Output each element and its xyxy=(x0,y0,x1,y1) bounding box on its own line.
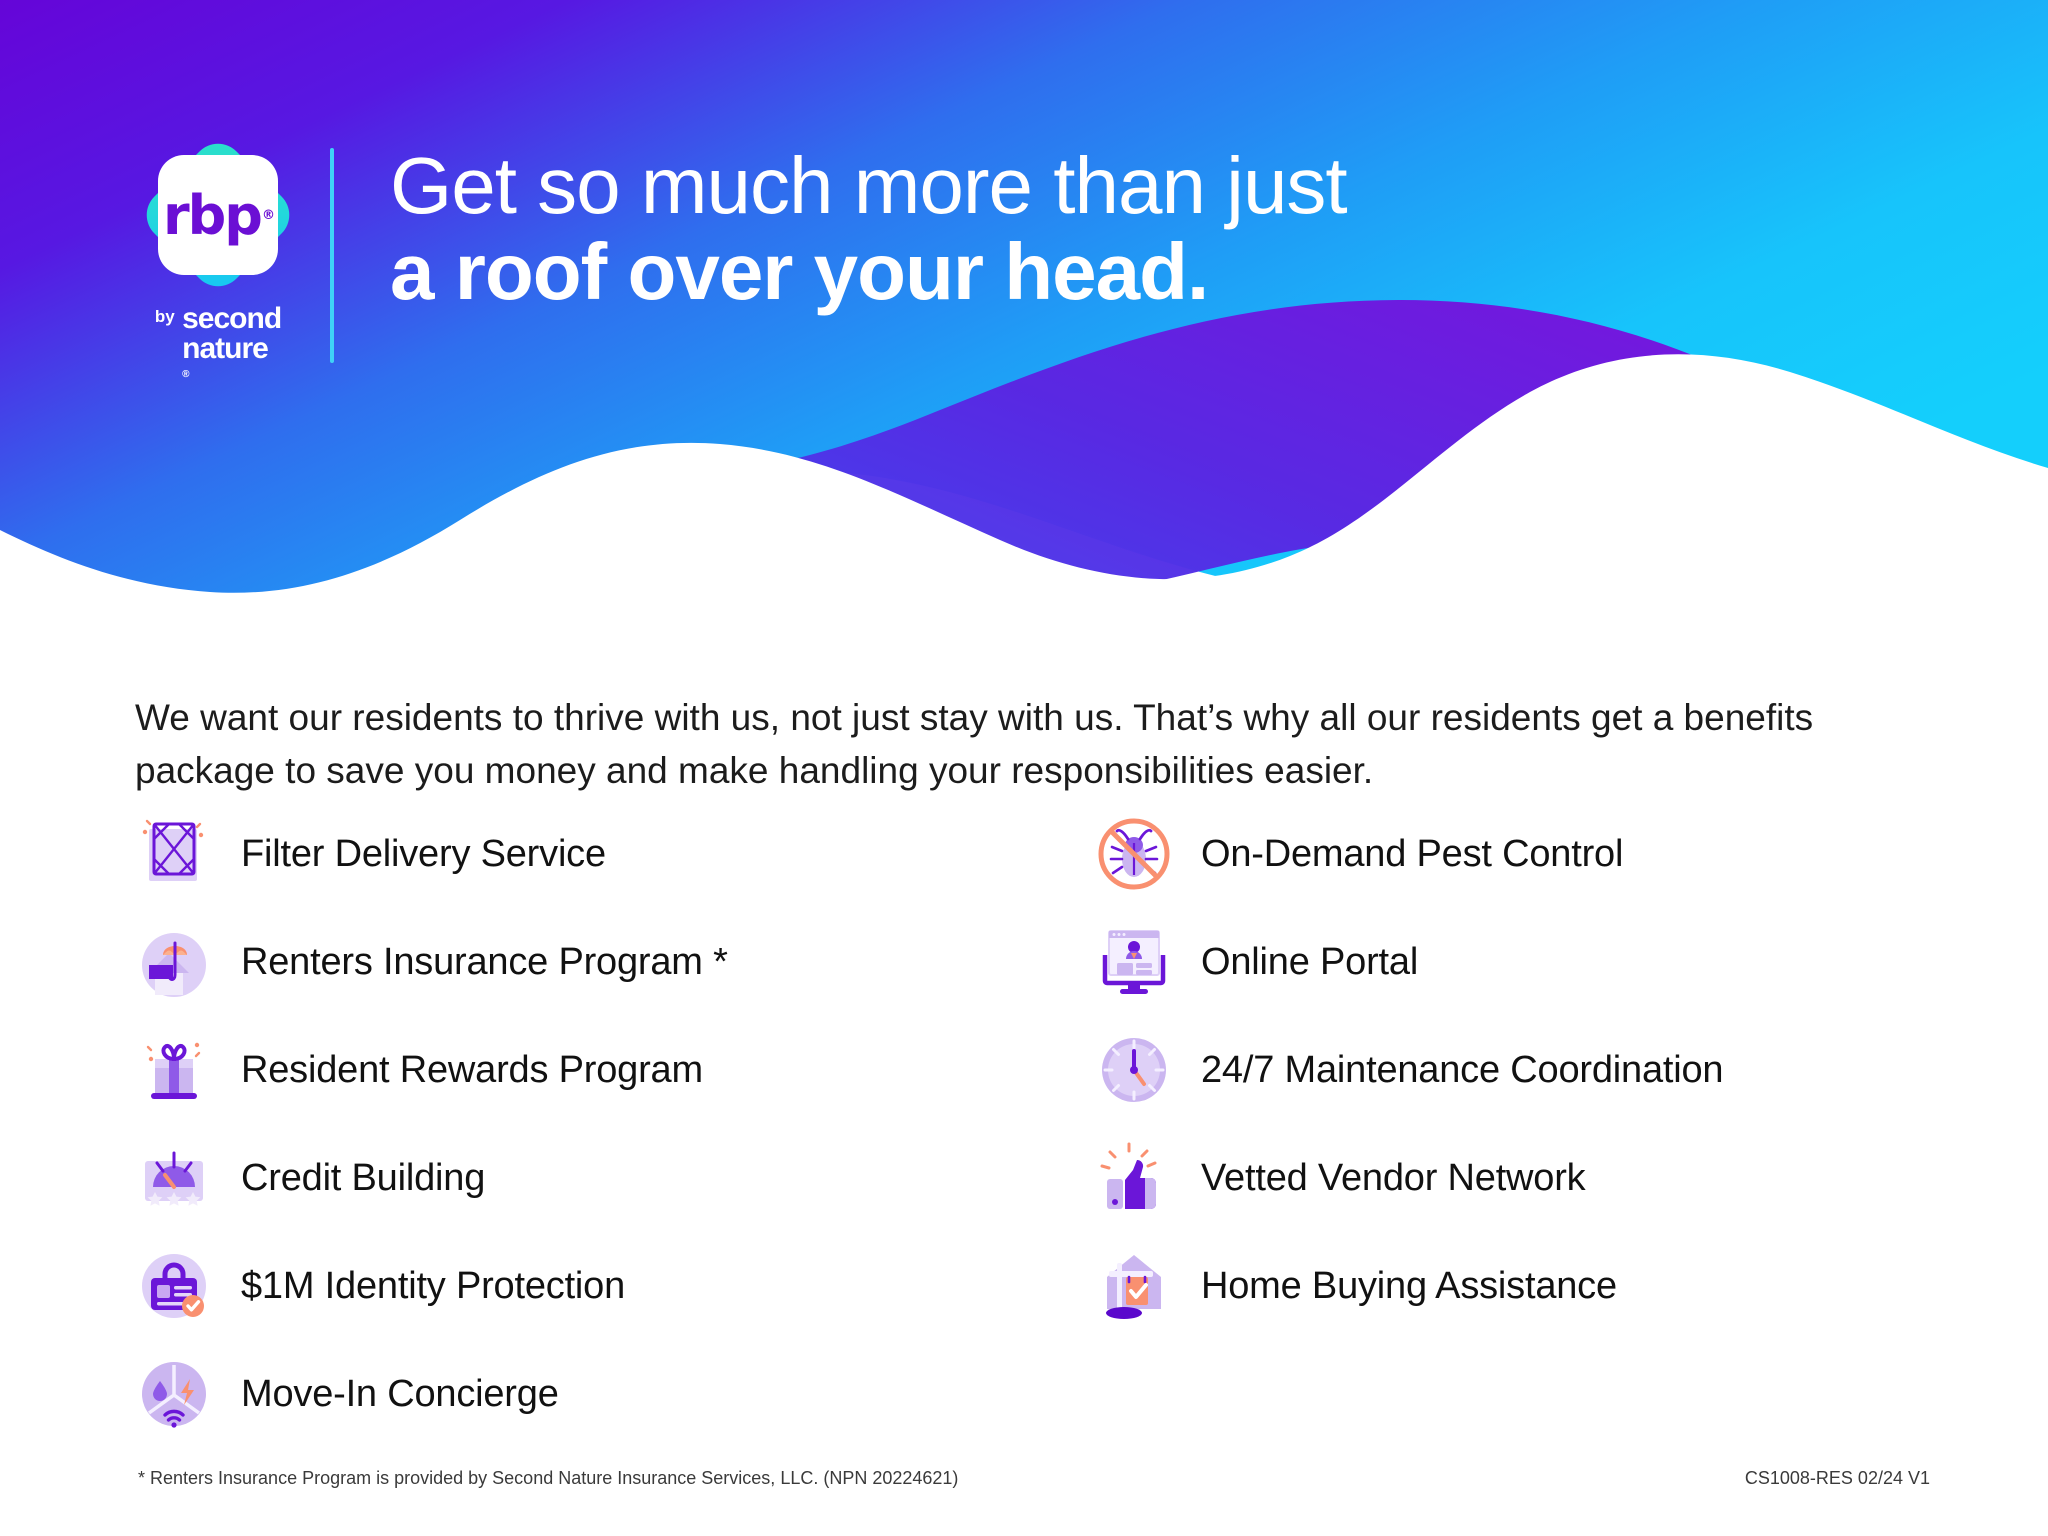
benefit-label: On-Demand Pest Control xyxy=(1201,833,1623,876)
logo-brand-line1: second xyxy=(182,304,281,334)
logo-by-text: by xyxy=(155,308,175,325)
benefit-item-credit-building: Credit Building xyxy=(135,1124,1035,1232)
benefit-item-move-in-concierge: Move-In Concierge xyxy=(135,1340,1035,1448)
brand-trademark: ® xyxy=(182,369,188,380)
gift-box-icon xyxy=(135,1031,213,1109)
clock-icon xyxy=(1095,1031,1173,1109)
benefit-item-online-portal: Online Portal xyxy=(1095,908,1935,1016)
benefit-label: 24/7 Maintenance Coordination xyxy=(1201,1049,1723,1092)
headline-line-1: Get so much more than just xyxy=(390,145,1347,227)
benefit-label: Online Portal xyxy=(1201,941,1418,984)
for-sale-sign-icon xyxy=(1095,1247,1173,1325)
rbp-wordmark-text: rbp xyxy=(163,184,261,247)
page-title: Get so much more than just a roof over y… xyxy=(390,145,1347,316)
headline-line-2: a roof over your head. xyxy=(390,227,1347,317)
benefit-item-resident-rewards-program: Resident Rewards Program xyxy=(135,1016,1035,1124)
umbrella-house-icon xyxy=(135,923,213,1001)
benefits-column-right: On-Demand Pest Control xyxy=(1095,800,1935,1340)
benefit-label: Vetted Vendor Network xyxy=(1201,1157,1585,1200)
benefit-label: Resident Rewards Program xyxy=(241,1049,703,1092)
rbp-wordmark: rbp® xyxy=(143,140,293,290)
benefit-item-vetted-vendor-network: Vetted Vendor Network xyxy=(1095,1124,1935,1232)
benefit-item-home-buying-assistance: Home Buying Assistance xyxy=(1095,1232,1935,1340)
benefit-label: Filter Delivery Service xyxy=(241,833,606,876)
flyer-page: rbp® by second nature® Get so much more … xyxy=(0,0,2048,1536)
benefit-label: Home Buying Assistance xyxy=(1201,1265,1617,1308)
desktop-monitor-icon xyxy=(1095,923,1173,1001)
intro-paragraph: We want our residents to thrive with us,… xyxy=(135,692,1925,797)
benefit-label: Credit Building xyxy=(241,1157,485,1200)
legal-footnote: * Renters Insurance Program is provided … xyxy=(138,1468,958,1489)
benefit-item-identity-protection: $1M Identity Protection xyxy=(135,1232,1035,1340)
benefit-item-filter-delivery-service: Filter Delivery Service xyxy=(135,800,1035,908)
header-divider-rule xyxy=(330,148,334,363)
benefit-label: $1M Identity Protection xyxy=(241,1265,625,1308)
rbp-trademark: ® xyxy=(262,208,273,223)
benefit-item-maintenance-coordination: 24/7 Maintenance Coordination xyxy=(1095,1016,1935,1124)
benefit-item-pest-control: On-Demand Pest Control xyxy=(1095,800,1935,908)
no-pest-icon xyxy=(1095,815,1173,893)
rbp-badge-icon: rbp® xyxy=(143,140,293,290)
logo-brand-line2: nature® xyxy=(182,334,281,394)
document-code: CS1008-RES 02/24 V1 xyxy=(1745,1468,1930,1489)
benefit-item-renters-insurance-program: Renters Insurance Program * xyxy=(135,908,1035,1016)
benefits-column-left: Filter Delivery Service Renters Insuranc… xyxy=(135,800,1035,1448)
benefit-label: Move-In Concierge xyxy=(241,1373,559,1416)
benefit-label: Renters Insurance Program * xyxy=(241,941,728,984)
header-banner: rbp® by second nature® Get so much more … xyxy=(0,0,2048,600)
credit-gauge-icon xyxy=(135,1139,213,1217)
air-filter-icon xyxy=(135,815,213,893)
utilities-setup-icon xyxy=(135,1355,213,1433)
rbp-logo: rbp® by second nature® xyxy=(130,140,306,375)
second-nature-lockup: by second nature® xyxy=(130,304,306,394)
thumbs-up-icon xyxy=(1095,1139,1173,1217)
id-badge-lock-icon xyxy=(135,1247,213,1325)
